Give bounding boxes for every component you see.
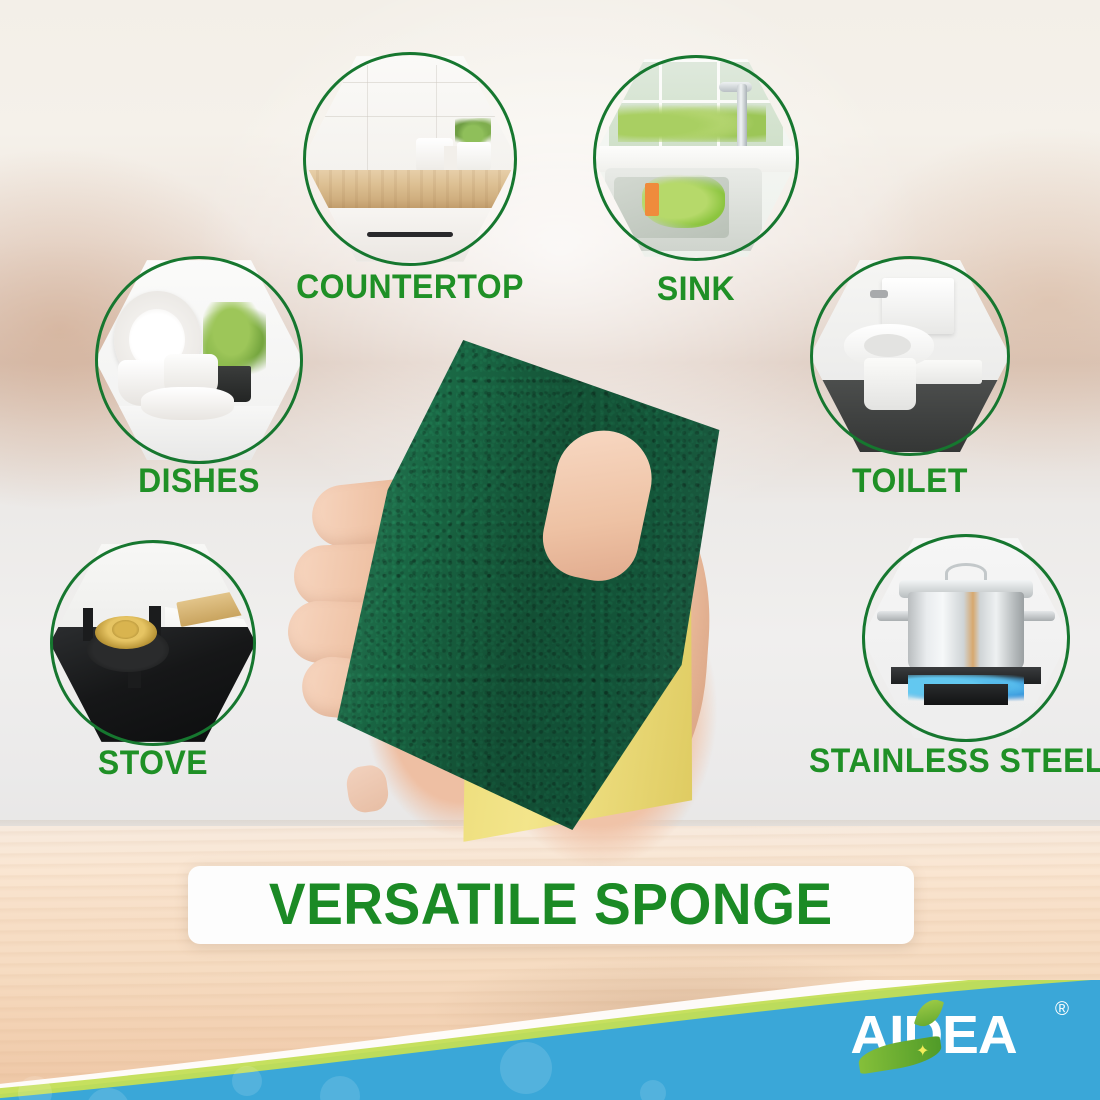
feature-label-toilet: TOILET <box>807 462 1014 501</box>
feature-label-stainless-steel: STAINLESS STEEL <box>809 742 1091 781</box>
trademark-symbol: ® <box>1055 1000 1069 1019</box>
page-title: VERSATILE SPONGE <box>269 876 833 934</box>
bubble-decoration <box>500 1042 552 1094</box>
brand-logo: AIDEA ✦ ® <box>852 1002 1067 1074</box>
feature-ring-countertop <box>303 52 517 266</box>
product-marketing-image: COUNTERTOPSINKDISHESTOILETSTOVESTAINLESS… <box>0 0 1100 1100</box>
bubble-decoration <box>232 1066 262 1096</box>
feature-label-countertop: COUNTERTOP <box>291 268 530 307</box>
product-photo-hand-holding-sponge <box>250 330 810 890</box>
feature-ring-toilet <box>810 256 1010 456</box>
bubble-decoration <box>640 1080 666 1100</box>
feature-ring-stainless-steel <box>862 534 1070 742</box>
feature-ring-stove <box>50 540 256 746</box>
feature-label-stove: STOVE <box>47 744 259 783</box>
feature-label-sink: SINK <box>596 270 795 309</box>
feature-ring-sink <box>593 55 799 261</box>
headline-plate: VERSATILE SPONGE <box>188 866 914 944</box>
sparkle-icon: ✦ <box>916 1044 932 1060</box>
